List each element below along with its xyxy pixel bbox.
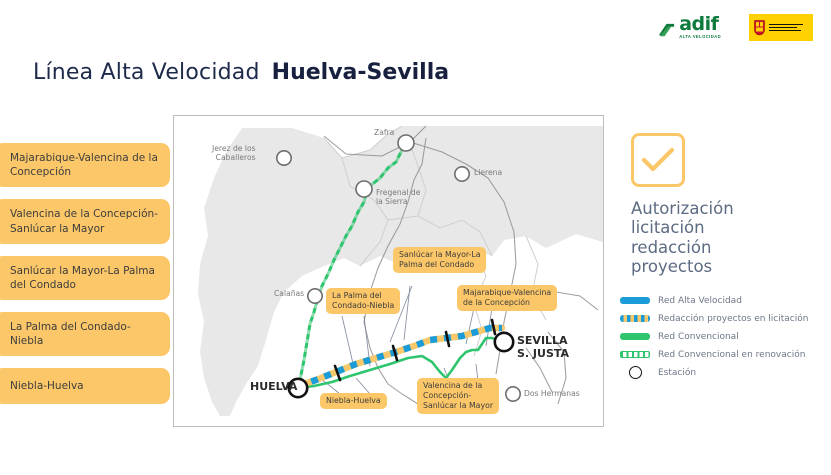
legend-swatch-solid-blue-icon [620, 295, 650, 306]
station-label-dos-hermanas: Dos Hermanas [524, 389, 580, 398]
adif-mark-icon [657, 21, 676, 40]
legend-label: Red Convencional [658, 332, 739, 342]
callout-sanlucar-lapalma[interactable]: Sanlúcar la Mayor-La Palma del Condado [393, 247, 486, 273]
adif-tagline: ALTA VELOCIDAD [679, 35, 721, 39]
callout-majarabique-valencina[interactable]: Majarabique-Valencina de la Concepción [457, 285, 557, 311]
legend-label: Redacción proyectos en licitación [658, 314, 808, 324]
station-label-llerena: Llerena [474, 168, 502, 177]
station-label-sevilla: SEVILLA S. JUSTA [517, 335, 569, 361]
logo-bar: adif ALTA VELOCIDAD [657, 14, 813, 41]
sidebar-item-label: Valencina de la Concepción-Sanlúcar la M… [10, 207, 160, 235]
sidebar-item-label: La Palma del Condado-Niebla [10, 320, 160, 348]
map-graphic [174, 116, 603, 426]
status-panel: Autorización licitación redacción proyec… [631, 133, 827, 277]
sidebar-item-label: Majarabique-Valencina de la Concepción [10, 151, 160, 179]
station-label-calanas: Calañas [274, 289, 304, 298]
legend-item-estacion: Estación [620, 367, 831, 378]
adif-wordmark: adif [679, 15, 721, 34]
legend-label: Red Alta Velocidad [658, 296, 742, 306]
station-label-huelva: HUELVA [250, 380, 297, 393]
sidebar-item-label: Niebla-Huelva [10, 379, 84, 393]
check-icon [641, 147, 675, 173]
legend-label: Red Convencional en renovación [658, 350, 805, 360]
ministry-text-lines [769, 24, 803, 31]
legend-item-convencional: Red Convencional [620, 331, 831, 342]
legend-swatch-solid-green-icon [620, 331, 650, 342]
station-label-zafra: Zafra [374, 128, 394, 137]
list-item[interactable]: La Palma del Condado-Niebla [0, 312, 170, 356]
legend-item-redaccion-proyectos: Redacción proyectos en licitación [620, 313, 831, 324]
page-title: Línea Alta VelocidadHuelva-Sevilla [33, 60, 449, 85]
status-badge [631, 133, 685, 187]
status-line-3: redacción [631, 238, 827, 257]
legend-item-convencional-renovacion: Red Convencional en renovación [620, 349, 831, 360]
callout-lapalma-niebla[interactable]: La Palma del Condado-Niebla [326, 288, 400, 314]
section-list: Majarabique-Valencina de la Concepción V… [0, 143, 170, 404]
status-line-4: proyectos [631, 257, 827, 276]
title-prefix: Línea Alta Velocidad [33, 60, 260, 85]
legend-swatch-dashed-blue-yellow-icon [620, 313, 650, 324]
list-item[interactable]: Sanlúcar la Mayor-La Palma del Condado [0, 256, 170, 300]
station-label-fregenal: Fregenal de la Sierra [376, 188, 420, 206]
legend-label: Estación [658, 368, 696, 378]
spain-coat-of-arms-icon [753, 19, 766, 36]
map-legend: Red Alta Velocidad Redacción proyectos e… [620, 295, 831, 378]
route-map[interactable]: Jerez de los Caballeros Zafra Llerena Fr… [173, 115, 604, 427]
callout-valencina-sanlucar[interactable]: Valencina de la Concepción- Sanlúcar la … [417, 378, 499, 414]
list-item[interactable]: Niebla-Huelva [0, 368, 170, 404]
title-route: Huelva-Sevilla [272, 60, 449, 85]
gobierno-logo [749, 14, 813, 41]
status-line-1: Autorización [631, 199, 827, 218]
sidebar-item-label: Sanlúcar la Mayor-La Palma del Condado [10, 264, 160, 292]
list-item[interactable]: Majarabique-Valencina de la Concepción [0, 143, 170, 187]
legend-swatch-station-icon [620, 367, 650, 378]
legend-item-alta-velocidad: Red Alta Velocidad [620, 295, 831, 306]
legend-swatch-dashed-green-icon [620, 349, 650, 360]
adif-logo: adif ALTA VELOCIDAD [657, 15, 721, 39]
callout-niebla-huelva[interactable]: Niebla-Huelva [320, 393, 387, 409]
status-line-2: licitación [631, 218, 827, 237]
list-item[interactable]: Valencina de la Concepción-Sanlúcar la M… [0, 199, 170, 243]
status-text: Autorización licitación redacción proyec… [631, 199, 827, 277]
station-label-jerez: Jerez de los Caballeros [212, 144, 256, 162]
